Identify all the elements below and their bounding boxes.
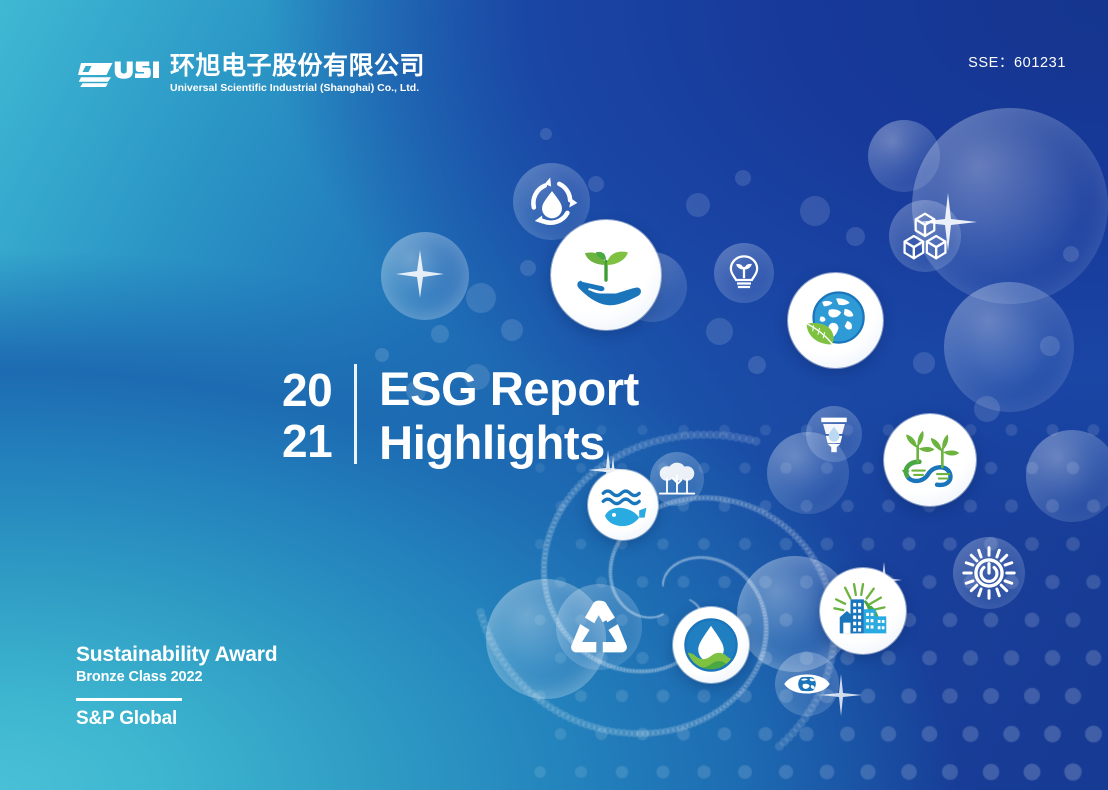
- report-title-line2: Highlights: [379, 416, 639, 470]
- company-logo: 环旭电子股份有限公司 Universal Scientific Industri…: [78, 52, 425, 95]
- award-divider: [76, 698, 182, 701]
- hand-plant-glyph: [564, 233, 648, 317]
- fish-water-glyph: [596, 478, 650, 532]
- report-year-top: 20: [282, 365, 332, 416]
- water-recycle-glyph: [523, 173, 581, 231]
- report-title-line1: ESG Report: [379, 362, 639, 416]
- report-year-bottom: 21: [282, 416, 332, 467]
- fish-water-icon: [588, 470, 658, 540]
- report-title: ESG Report Highlights: [357, 362, 639, 470]
- cover-title-block: 20 21 ESG Report Highlights: [282, 362, 639, 470]
- globe-leaf-glyph: [798, 283, 874, 359]
- green-city-glyph: [829, 577, 897, 645]
- water-drop-waves-icon: [673, 607, 749, 683]
- award-subtitle: Bronze Class 2022: [76, 668, 277, 687]
- recycle-glyph: [567, 595, 631, 659]
- eye-globe-glyph: [782, 659, 832, 709]
- globe-leaf-icon: [788, 273, 883, 368]
- forest-trees-icon: [650, 452, 704, 506]
- esg-report-cover: 环旭电子股份有限公司 Universal Scientific Industri…: [0, 0, 1108, 790]
- usi-logo-mark: [78, 52, 162, 92]
- cover-header: 环旭电子股份有限公司 Universal Scientific Industri…: [0, 0, 1108, 120]
- company-name-en: Universal Scientific Industrial (Shangha…: [170, 82, 425, 95]
- water-drop-waves-glyph: [680, 614, 742, 676]
- eco-lightbulb-glyph: [723, 252, 765, 294]
- wind-turbine-loop-icon: [884, 414, 976, 506]
- hand-plant-icon: [551, 220, 661, 330]
- solar-power-glyph: [961, 545, 1017, 601]
- eye-globe-icon: [775, 652, 839, 716]
- green-city-icon: [820, 568, 906, 654]
- eco-lightbulb-icon: [714, 243, 774, 303]
- recycle-icon: [556, 584, 642, 670]
- award-title: Sustainability Award: [76, 642, 277, 667]
- water-filter-glyph: [814, 414, 854, 454]
- cubes-3d-glyph: [899, 210, 951, 262]
- water-filter-icon: [806, 406, 862, 462]
- sustainability-award-badge: Sustainability Award Bronze Class 2022 S…: [76, 642, 277, 730]
- company-name-cn: 环旭电子股份有限公司: [170, 52, 425, 79]
- solar-power-icon: [953, 537, 1025, 609]
- report-year: 20 21: [282, 362, 354, 470]
- forest-trees-glyph: [657, 459, 697, 499]
- cubes-3d-icon: [889, 200, 961, 272]
- stock-listing-code: SSE：601231: [968, 51, 1066, 72]
- wind-turbine-loop-glyph: [893, 423, 967, 497]
- award-brand: S&P Global: [76, 708, 277, 730]
